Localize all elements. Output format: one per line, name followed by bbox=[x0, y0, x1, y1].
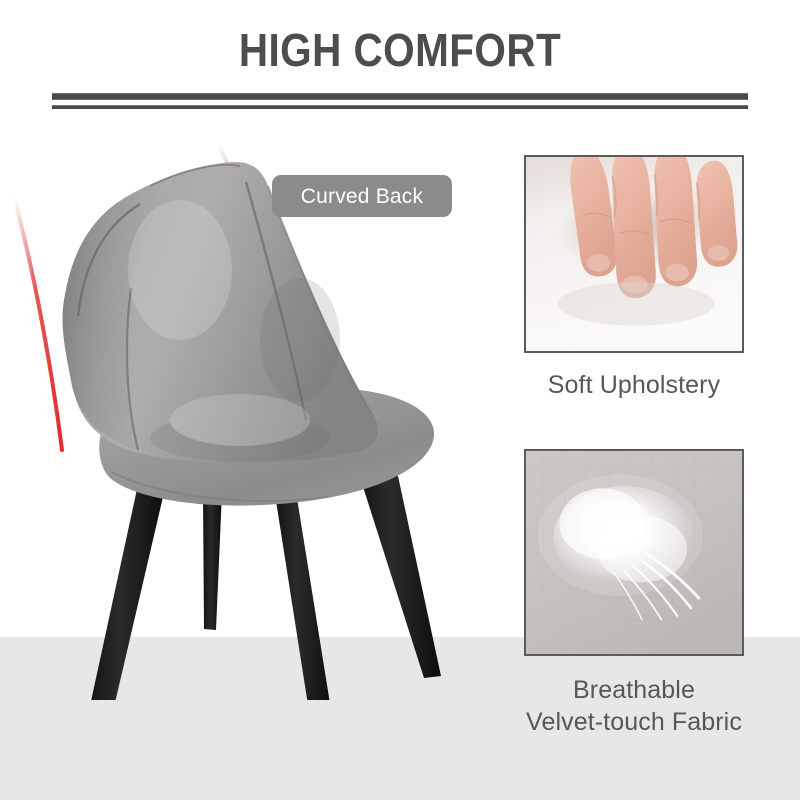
feature-caption: Soft Upholstery bbox=[524, 369, 744, 401]
chair-leg-front-right bbox=[274, 488, 332, 700]
infographic-canvas: HIGH COMFORT bbox=[0, 0, 800, 800]
feature-image-frame bbox=[524, 155, 744, 353]
feature-card-soft-upholstery: Soft Upholstery bbox=[524, 155, 744, 401]
accent-curve-left bbox=[14, 198, 62, 450]
callout-curved-back: Curved Back bbox=[272, 175, 452, 217]
feature-caption-line: Velvet-touch Fabric bbox=[524, 706, 744, 738]
feature-caption: Breathable Velvet-touch Fabric bbox=[524, 674, 744, 738]
chair-leg-back-left bbox=[203, 492, 222, 630]
feature-caption-line: Soft Upholstery bbox=[524, 369, 744, 401]
callout-label: Curved Back bbox=[301, 186, 423, 207]
page-title: HIGH COMFORT bbox=[48, 22, 752, 78]
feature-image-frame bbox=[524, 449, 744, 656]
feature-card-breathable-fabric: Breathable Velvet-touch Fabric bbox=[524, 449, 744, 738]
feature-caption-line: Breathable bbox=[524, 674, 744, 706]
divider-bar-thick bbox=[52, 93, 748, 100]
divider-bar-thin bbox=[52, 105, 748, 109]
title-divider bbox=[52, 93, 748, 109]
chair-leg-back-right bbox=[357, 468, 441, 678]
chair-leg-front-left bbox=[88, 480, 166, 700]
